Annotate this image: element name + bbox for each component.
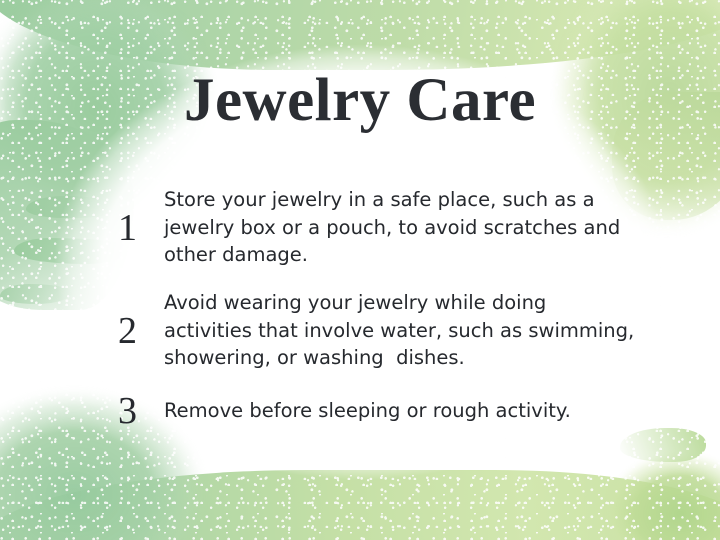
- page-title: Jewelry Care: [0, 70, 720, 131]
- jewelry-care-poster: Jewelry Care 1 Store your jewelry in a s…: [0, 0, 720, 540]
- tip-number-3: 3: [118, 392, 164, 430]
- tip-text-3: Remove before sleeping or rough activity…: [164, 397, 638, 425]
- list-item: 3 Remove before sleeping or rough activi…: [118, 392, 638, 430]
- tip-number-1: 1: [118, 209, 164, 247]
- tip-text-2: Avoid wearing your jewelry while doing a…: [164, 289, 638, 372]
- tip-number-2: 2: [118, 312, 164, 350]
- list-item: 1 Store your jewelry in a safe place, su…: [118, 186, 638, 269]
- poster-content: Jewelry Care 1 Store your jewelry in a s…: [0, 0, 720, 540]
- list-item: 2 Avoid wearing your jewelry while doing…: [118, 289, 638, 372]
- tips-list: 1 Store your jewelry in a safe place, su…: [118, 186, 638, 430]
- tip-text-1: Store your jewelry in a safe place, such…: [164, 186, 638, 269]
